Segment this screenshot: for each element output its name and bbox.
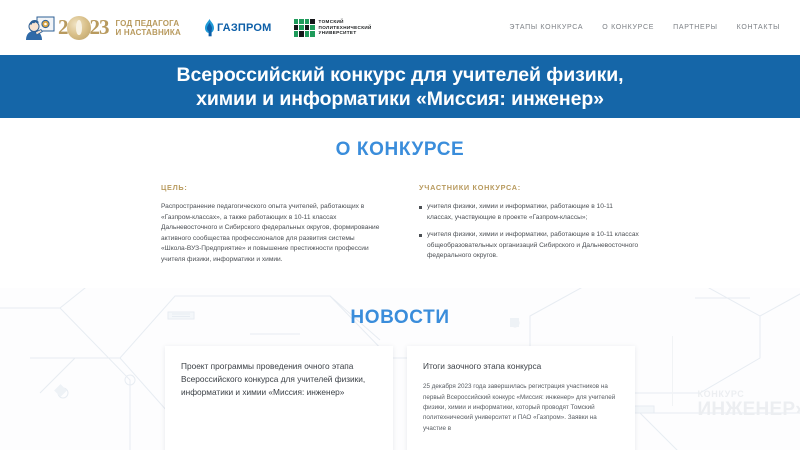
hero-title-line2: химии и информатики «Миссия: инженер»: [196, 88, 604, 110]
emblem-circle-icon: [67, 16, 91, 40]
gazprom-wordmark: ГАЗПРОМ: [217, 22, 272, 34]
news-section: КОНКУРС ИНЖЕНЕР» НОВОСТИ Проект программ…: [0, 288, 800, 450]
tpu-logo[interactable]: ТОМСКИЙ ПОЛИТЕХНИЧЕСКИЙ УНИВЕРСИТЕТ: [294, 19, 372, 37]
about-section-title: О КОНКУРСЕ: [0, 139, 800, 161]
list-item: учителя физики, химии и информатики, раб…: [419, 230, 639, 262]
hero-title-line1: Всероссийский конкурс для учителей физик…: [177, 64, 624, 86]
logo-group: 2 23 ГОД ПЕДАГОГА И НАСТАВНИКА: [22, 13, 372, 43]
nav-item-stages[interactable]: ЭТАПЫ КОНКУРСА: [509, 24, 583, 31]
year-digit-23: 23: [90, 15, 109, 40]
teacher-illustration-icon: [22, 13, 56, 43]
about-participants-column: УЧАСТНИКИ КОНКУРСА: учителя физики, хими…: [419, 183, 639, 269]
tpu-line3: УНИВЕРСИТЕТ: [319, 30, 372, 36]
tpu-grid-icon: [294, 19, 315, 37]
hero-title: Всероссийский конкурс для учителей физик…: [177, 63, 624, 111]
hero-banner: Всероссийский конкурс для учителей физик…: [0, 55, 800, 118]
about-columns: ЦЕЛЬ: Распространение педагогического оп…: [161, 183, 639, 269]
year-2023-mark: 2 23: [58, 15, 109, 40]
news-card-body: 25 декабря 2023 года завершилась регистр…: [423, 382, 619, 434]
about-participants-heading: УЧАСТНИКИ КОНКУРСА:: [419, 183, 639, 192]
about-participants-list: учителя физики, химии и информатики, раб…: [419, 202, 639, 262]
nav-item-contacts[interactable]: КОНТАКТЫ: [737, 24, 780, 31]
year-of-teacher-line2: И НАСТАВНИКА: [116, 28, 181, 37]
news-card[interactable]: Итоги заочного этапа конкурса 25 декабря…: [407, 346, 635, 450]
news-card[interactable]: Проект программы проведения очного этапа…: [165, 346, 393, 450]
about-section: О КОНКУРСЕ ЦЕЛЬ: Распространение педагог…: [0, 118, 800, 288]
news-card-list: Проект программы проведения очного этапа…: [165, 346, 635, 450]
about-goal-text: Распространение педагогического опыта уч…: [161, 202, 381, 266]
list-item: учителя физики, химии и информатики, раб…: [419, 202, 639, 223]
nav-item-about[interactable]: О КОНКУРСЕ: [602, 24, 654, 31]
year-of-teacher-line1: ГОД ПЕДАГОГА: [116, 19, 181, 28]
landing-page: 2 23 ГОД ПЕДАГОГА И НАСТАВНИКА: [0, 0, 800, 450]
news-content: НОВОСТИ Проект программы проведения очно…: [0, 288, 800, 450]
site-header: 2 23 ГОД ПЕДАГОГА И НАСТАВНИКА: [0, 0, 800, 55]
main-navigation: ЭТАПЫ КОНКУРСА О КОНКУРСЕ ПАРТНЕРЫ КОНТА…: [509, 24, 780, 31]
news-section-title: НОВОСТИ: [0, 288, 800, 329]
gazprom-flame-icon: [203, 19, 216, 37]
news-card-title: Итоги заочного этапа конкурса: [423, 360, 619, 373]
tpu-wordmark: ТОМСКИЙ ПОЛИТЕХНИЧЕСКИЙ УНИВЕРСИТЕТ: [319, 19, 372, 36]
year-of-teacher-text: ГОД ПЕДАГОГА И НАСТАВНИКА: [116, 19, 181, 37]
news-card-title: Проект программы проведения очного этапа…: [181, 360, 377, 400]
gazprom-logo[interactable]: ГАЗПРОМ: [203, 19, 272, 37]
nav-item-partners[interactable]: ПАРТНЕРЫ: [673, 24, 718, 31]
about-goal-column: ЦЕЛЬ: Распространение педагогического оп…: [161, 183, 381, 269]
about-goal-heading: ЦЕЛЬ:: [161, 183, 381, 192]
year-of-teacher-logo[interactable]: 2 23 ГОД ПЕДАГОГА И НАСТАВНИКА: [22, 13, 181, 43]
